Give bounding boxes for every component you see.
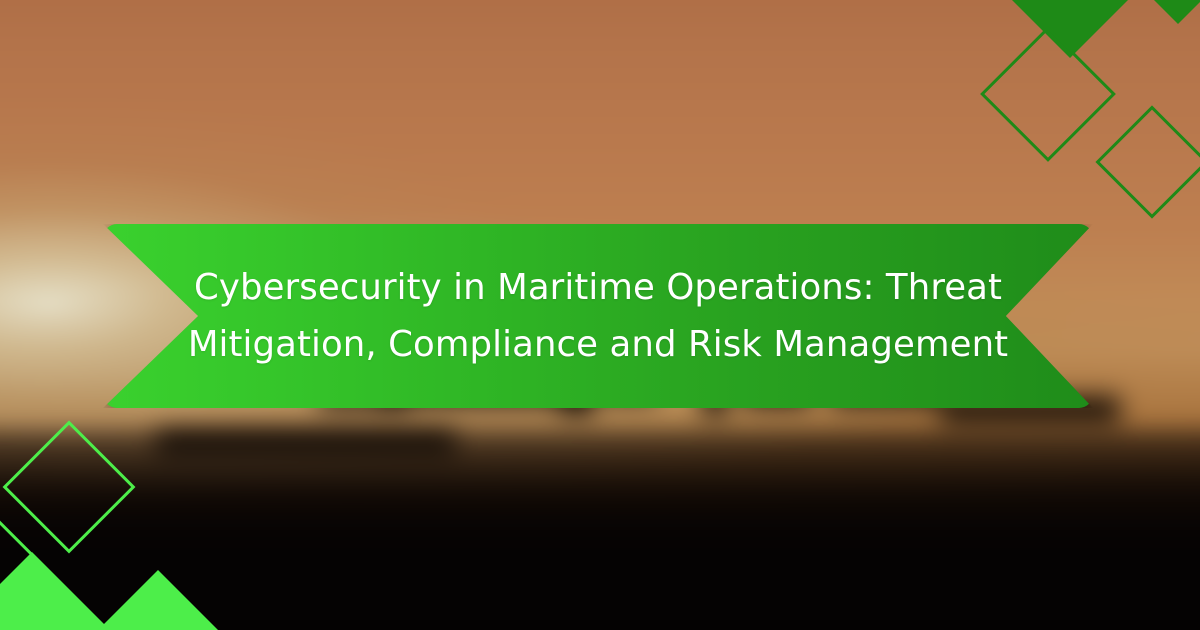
page-title-line-1: Cybersecurity in Maritime Operations: Th… [194,259,1002,317]
triangle-down-small-icon [1094,0,1200,24]
diamond-outline-upper-icon [3,421,136,554]
title-ribbon-banner: Cybersecurity in Maritime Operations: Th… [103,224,1093,408]
page-title-line-2: Mitigation, Compliance and Risk Manageme… [188,316,1008,374]
triangle-up-large-icon [54,570,262,630]
decoration-cluster-bottom-left [0,390,240,630]
ribbon-content: Cybersecurity in Maritime Operations: Th… [103,224,1093,408]
cover-card: Cybersecurity in Maritime Operations: Th… [0,0,1200,630]
decoration-cluster-top-right [960,0,1200,200]
